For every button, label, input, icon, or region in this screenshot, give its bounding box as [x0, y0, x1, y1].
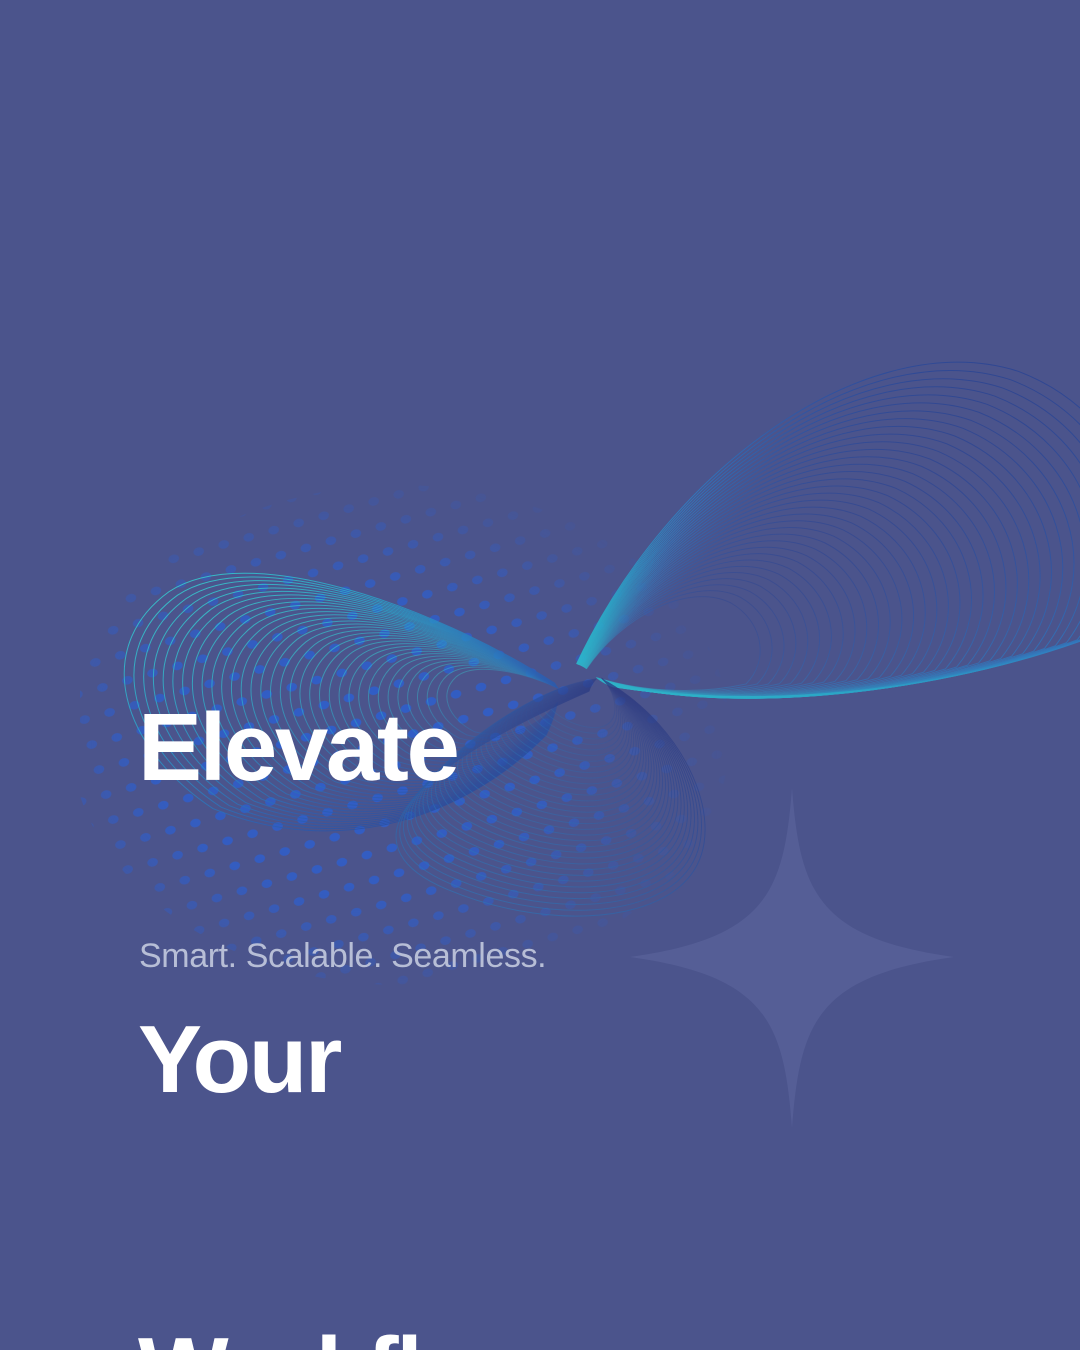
- headline-line-3: Workflow: [138, 1320, 549, 1350]
- subtitle-tagline: Smart. Scalable. Seamless.: [139, 934, 546, 978]
- headline-line-2: Your: [138, 1008, 549, 1112]
- page-title: Elevate Your Workflow: [138, 488, 549, 1350]
- headline-line-1: Elevate: [138, 696, 549, 800]
- hero-text-block: Elevate Your Workflow Smart. Scalable. S…: [138, 0, 1018, 1350]
- poster-canvas: Elevate Your Workflow Smart. Scalable. S…: [0, 0, 1080, 1350]
